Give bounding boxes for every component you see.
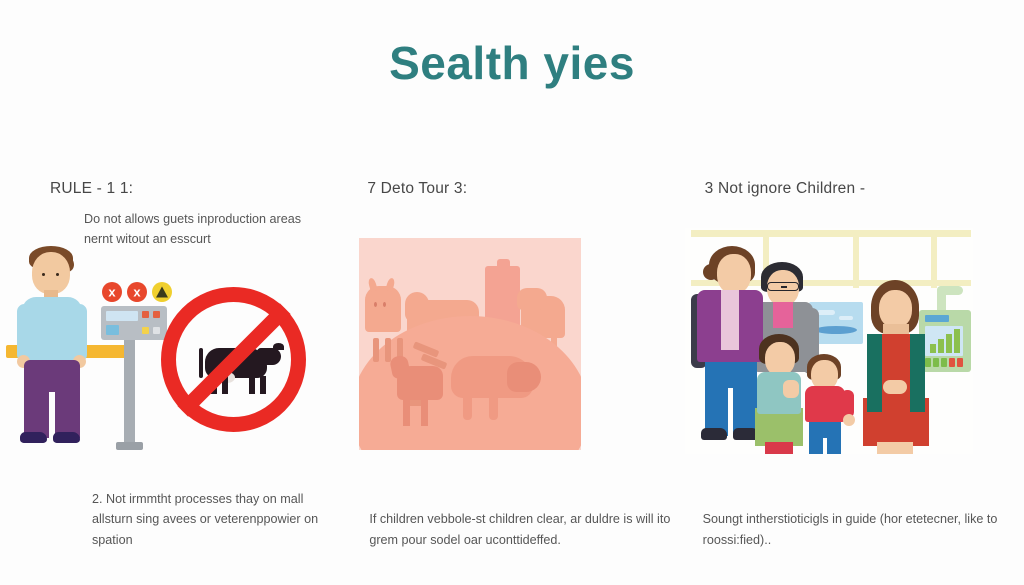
poster-cloud-1 — [817, 310, 835, 315]
adult3-head — [879, 290, 912, 328]
adult1-leg-gap — [728, 388, 733, 436]
worker-arm-left — [17, 304, 32, 362]
panel-button-3 — [142, 327, 149, 334]
poster-cloud-2 — [839, 316, 853, 320]
fence-post-1 — [373, 338, 379, 362]
worker-arm-right — [72, 304, 87, 362]
illustration-worker-no-cattle: x x — [6, 242, 316, 450]
panel-button-1 — [142, 311, 149, 318]
device-chart-bar-3 — [946, 334, 952, 353]
column-1-heading: RULE - 1 1: — [14, 180, 327, 198]
animal-cow-left — [365, 286, 401, 332]
column-2-caption: If children vebbole-st children clear, a… — [341, 509, 682, 550]
device-led-red-2 — [957, 358, 963, 367]
column-1-caption: 2. Not irmmtht processes thay on mall al… — [0, 489, 341, 550]
child1-legs — [765, 442, 793, 454]
adult1-shoe-left — [701, 428, 727, 440]
adult3-hands — [883, 380, 907, 394]
device-chart-bar-4 — [954, 329, 960, 353]
cow-right-head — [517, 288, 547, 310]
goat-leg-1 — [403, 398, 410, 426]
fence-post-2 — [385, 338, 391, 362]
child1-hands — [783, 380, 799, 398]
cow-center-head — [405, 292, 429, 322]
device-led-red-1 — [949, 358, 955, 367]
no-cattle-prohibition-icon — [161, 287, 306, 432]
worker-eye-right — [56, 273, 59, 276]
device-led-green-1 — [925, 358, 931, 367]
column-1: RULE - 1 1: Do not allows guets inproduc… — [0, 180, 341, 560]
panel-post — [124, 340, 135, 450]
illustration-family-visitors — [685, 228, 973, 454]
device-led-row — [925, 358, 963, 367]
panel-display-small — [106, 325, 119, 335]
device-label — [925, 315, 949, 322]
panel-button-4 — [153, 327, 160, 334]
device-led-green-3 — [941, 358, 947, 367]
worker-leg-gap — [49, 392, 55, 438]
adult1-inner-shirt — [721, 290, 739, 350]
illustration-pink-farm-animals — [359, 238, 581, 450]
column-3: 3 Not ignore Children - — [683, 180, 1024, 560]
control-panel — [101, 306, 167, 340]
device-led-green-2 — [933, 358, 939, 367]
page-title: Sealth yies — [0, 36, 1024, 90]
column-2-heading: 7 Deto Tour 3: — [355, 180, 668, 198]
device-chart-screen — [925, 326, 963, 356]
warning-lamp-red-2-icon: x — [127, 282, 147, 302]
worker-head — [32, 252, 70, 294]
poster-wave — [815, 326, 857, 334]
columns-container: RULE - 1 1: Do not allows guets inproduc… — [0, 180, 1024, 560]
child2-leg-gap — [823, 438, 827, 454]
adult3-legs — [877, 442, 913, 454]
panel-display — [106, 311, 138, 321]
worker-shoe-left — [20, 432, 47, 443]
lamp-x-glyph: x — [108, 286, 115, 299]
window-frame-top — [691, 230, 971, 237]
pig-leg-1 — [463, 394, 472, 420]
glasses-icon — [767, 282, 799, 291]
worker-eye-left — [42, 273, 45, 276]
adult3-vest-left — [867, 334, 882, 412]
column-2: 7 Deto Tour 3: — [341, 180, 682, 560]
device-chart-bar-1 — [930, 344, 936, 353]
panel-button-2 — [153, 311, 160, 318]
adult1-head — [717, 254, 751, 294]
adult2-shirt — [773, 302, 793, 328]
warning-lamp-red-1-icon: x — [102, 282, 122, 302]
child2-hand — [843, 414, 855, 426]
panel-post-base — [116, 442, 143, 450]
goat-leg-2 — [421, 398, 428, 426]
child1-head — [765, 342, 795, 376]
adult3-vest-right — [910, 334, 925, 412]
device-chart-bar-2 — [938, 339, 944, 353]
wall-monitor-device — [919, 310, 971, 372]
column-3-caption: Soungt intherstioticigls in guide (hor e… — [683, 509, 1024, 550]
pig-snout — [507, 362, 541, 392]
pig-leg-2 — [489, 394, 498, 420]
lamp-x-glyph: x — [133, 286, 140, 299]
child2-shirt — [805, 386, 845, 422]
worker-shoe-right — [53, 432, 80, 443]
column-3-heading: 3 Not ignore Children - — [697, 180, 1010, 198]
